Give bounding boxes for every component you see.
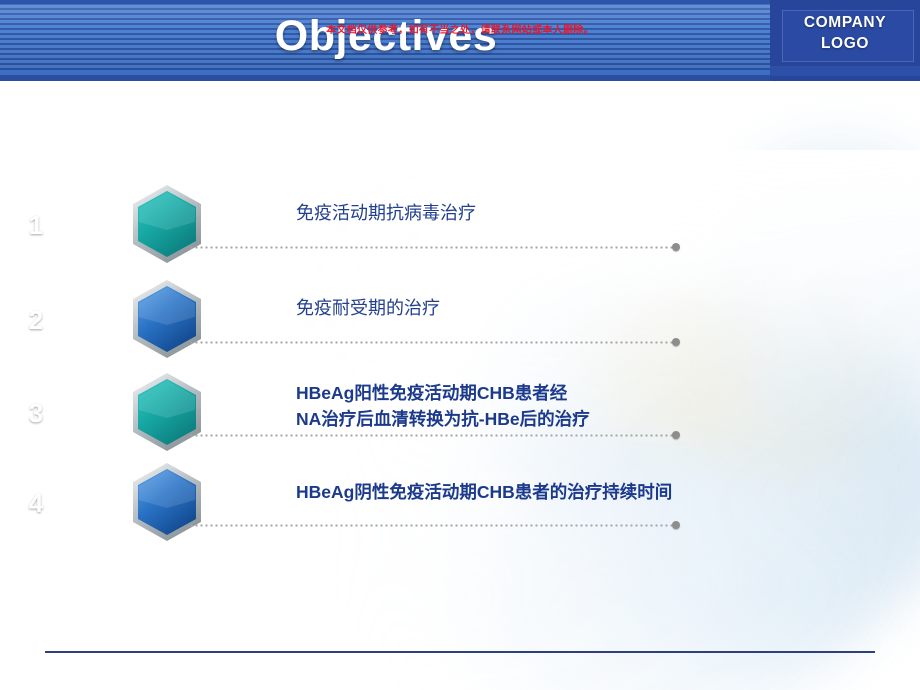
objective-text-2: 免疫耐受期的治疗 (296, 295, 896, 321)
objective-line-2: NA治疗后血清转换为抗-HBe后的治疗 (296, 406, 896, 432)
connector-end-dot-1 (672, 243, 680, 251)
objectives-list: 1 免疫活动期抗病毒治疗 (0, 0, 920, 690)
objective-text-4: HBeAg阴性免疫活动期CHB患者的治疗持续时间 (296, 479, 896, 505)
watermark-notice: 本文档仅供参考，如有不当之处，请联系网站或本人删除。 (150, 21, 770, 36)
hexagon-badge-4 (131, 462, 203, 542)
page-title: Objectives (0, 6, 772, 66)
objective-text-3: HBeAg阳性免疫活动期CHB患者经 NA治疗后血清转换为抗-HBe后的治疗 (296, 380, 896, 432)
objective-line-1: HBeAg阳性免疫活动期CHB患者经 (296, 383, 567, 403)
hexagon-badge-1 (131, 184, 203, 264)
footer-divider (45, 651, 875, 653)
connector-line-1 (189, 246, 676, 249)
objective-text-1: 免疫活动期抗病毒治疗 (296, 200, 896, 226)
connector-end-dot-2 (672, 338, 680, 346)
connector-line-3 (189, 434, 676, 437)
connector-line-4 (189, 524, 676, 527)
hexagon-number-1: 1 (0, 210, 72, 241)
objective-line-1: 免疫活动期抗病毒治疗 (296, 203, 476, 223)
hexagon-badge-3 (131, 372, 203, 452)
hexagon-number-4: 4 (0, 488, 72, 519)
connector-end-dot-3 (672, 431, 680, 439)
hexagon-number-2: 2 (0, 305, 72, 336)
objective-line-1: HBeAg阴性免疫活动期CHB患者的治疗持续时间 (296, 482, 672, 502)
objective-line-1: 免疫耐受期的治疗 (296, 298, 440, 318)
slide-canvas: 本文档仅供参考，如有不当之处，请联系网站或本人删除。 Objectives CO… (0, 0, 920, 690)
connector-end-dot-4 (672, 521, 680, 529)
hexagon-number-3: 3 (0, 398, 72, 429)
hexagon-badge-2 (131, 279, 203, 359)
connector-line-2 (189, 341, 676, 344)
